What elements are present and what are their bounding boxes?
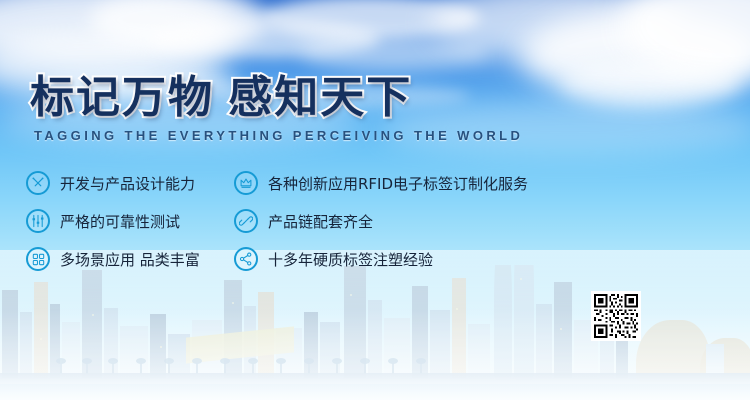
page-subtitle: TAGGING THE EVERYTHING PERCEIVING THE WO… [34, 128, 523, 143]
sliders-icon [26, 209, 50, 233]
feature-label: 严格的可靠性测试 [60, 211, 180, 232]
chain-link-icon [234, 209, 258, 233]
feature-label: 各种创新应用RFID电子标签订制化服务 [268, 173, 528, 194]
qr-code-image [592, 292, 640, 340]
tools-icon [26, 171, 50, 195]
feature-item-rfid-customization[interactable]: 各种创新应用RFID电子标签订制化服务 [234, 168, 634, 198]
share-nodes-icon [234, 247, 258, 271]
promo-banner: 标记万物 感知天下 TAGGING THE EVERYTHING PERCEIV… [0, 0, 750, 400]
feature-item-supply-chain[interactable]: 产品链配套齐全 [234, 206, 634, 236]
feature-column-right: 各种创新应用RFID电子标签订制化服务 产品链配套齐全 [234, 168, 634, 282]
qr-code[interactable] [591, 291, 641, 341]
feature-item-reliability-test[interactable]: 严格的可靠性测试 [26, 206, 226, 236]
headline-block: 标记万物 感知天下 TAGGING THE EVERYTHING PERCEIV… [30, 72, 523, 143]
grid-icon [26, 247, 50, 271]
feature-label: 十多年硬质标签注塑经验 [268, 249, 433, 270]
feature-label: 开发与产品设计能力 [60, 173, 195, 194]
crown-icon [234, 171, 258, 195]
feature-label: 产品链配套齐全 [268, 211, 373, 232]
feature-column-left: 开发与产品设计能力 严格的可靠性测试 [26, 168, 226, 282]
feature-item-molding-experience[interactable]: 十多年硬质标签注塑经验 [234, 244, 634, 274]
page-title: 标记万物 感知天下 [30, 72, 523, 124]
feature-label: 多场景应用 品类丰富 [60, 249, 200, 270]
feature-item-development[interactable]: 开发与产品设计能力 [26, 168, 226, 198]
feature-item-multi-scenario[interactable]: 多场景应用 品类丰富 [26, 244, 226, 274]
